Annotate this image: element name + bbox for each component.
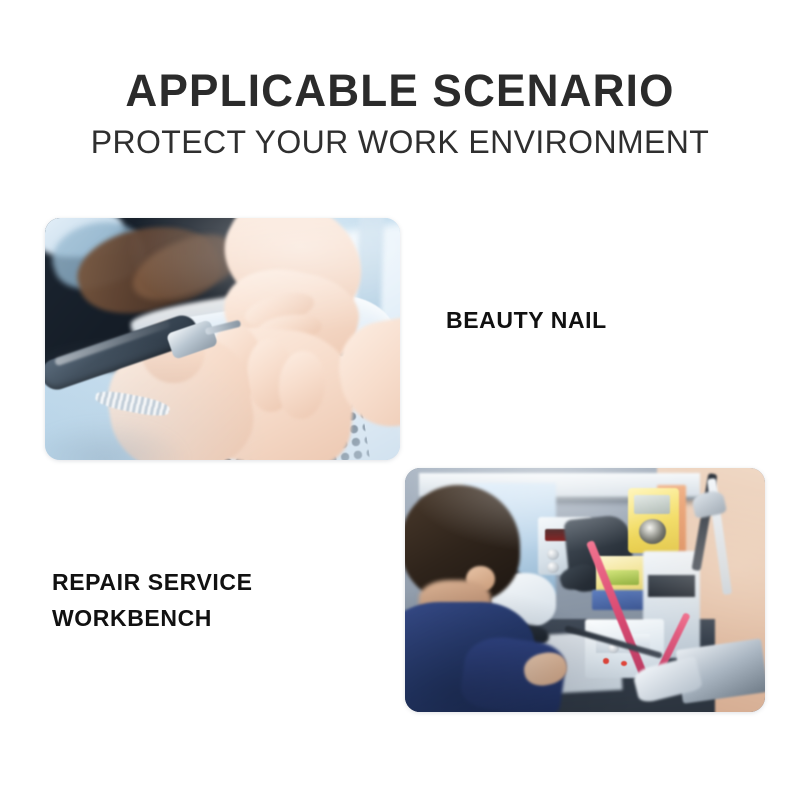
- heading-block: APPLICABLE SCENARIO PROTECT YOUR WORK EN…: [0, 66, 800, 162]
- photo-repair-bench: [405, 468, 765, 712]
- caption-repair-service-workbench: REPAIR SERVICE WORKBENCH: [52, 564, 253, 636]
- caption-beauty-nail: BEAUTY NAIL: [446, 306, 607, 334]
- photo-beauty-nail: [45, 218, 400, 460]
- page-subtitle: PROTECT YOUR WORK ENVIRONMENT: [0, 122, 800, 162]
- poster-canvas: APPLICABLE SCENARIO PROTECT YOUR WORK EN…: [0, 0, 800, 800]
- bench-photo-light-overlay: [405, 468, 765, 712]
- caption-repair-line-2: WORKBENCH: [52, 600, 253, 636]
- nail-photo-light-overlay: [45, 218, 400, 460]
- page-title: APPLICABLE SCENARIO: [8, 66, 792, 116]
- caption-repair-line-1: REPAIR SERVICE: [52, 564, 253, 600]
